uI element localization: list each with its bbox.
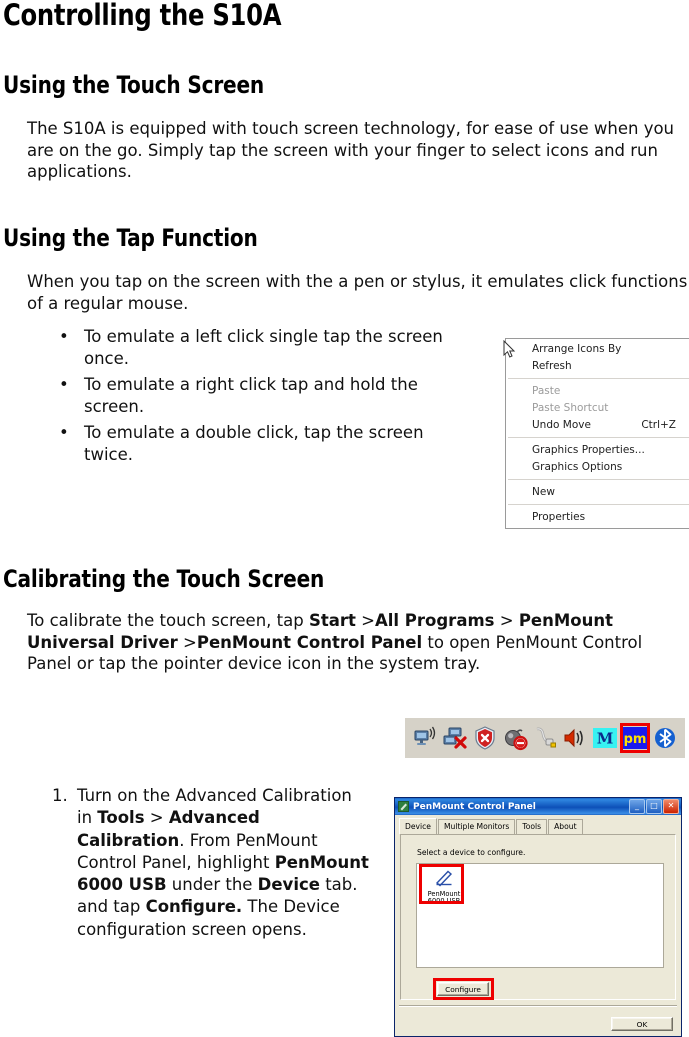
- text-run: under the: [167, 875, 258, 894]
- penmount-pm-icon[interactable]: pm: [622, 725, 648, 751]
- menu-item-paste: Paste: [506, 383, 689, 400]
- text-run: To calibrate the touch screen, tap: [27, 611, 309, 630]
- close-icon: ✕: [664, 800, 678, 813]
- select-device-hint: Select a device to configure.: [417, 848, 525, 857]
- menu-separator: [508, 378, 689, 380]
- menu-item-new[interactable]: New: [506, 484, 689, 501]
- paragraph-tap-function: When you tap on the screen with the a pe…: [27, 271, 689, 314]
- menu-item-shortcut: Ctrl+Z: [641, 417, 676, 434]
- menu-item-label: Graphics Options: [532, 461, 622, 473]
- text-run: >: [145, 808, 169, 827]
- text-run: >: [356, 611, 375, 630]
- emphasis-run: Tools: [97, 808, 144, 827]
- maximize-icon: □: [647, 800, 661, 813]
- menu-item-paste-shortcut: Paste Shortcut: [506, 400, 689, 417]
- maximize-button[interactable]: □: [646, 799, 662, 814]
- paragraph-calibrating: To calibrate the touch screen, tap Start…: [27, 610, 689, 675]
- device-tab-pane: Select a device to configure. PenMount 6…: [400, 834, 676, 1000]
- emphasis-run: Start: [309, 611, 356, 630]
- window-buttons: _ □ ✕: [629, 799, 679, 814]
- dialog-title-bar[interactable]: PenMount Control Panel _ □ ✕: [395, 798, 681, 815]
- system-tray-strip[interactable]: Mpm: [405, 718, 685, 758]
- close-button[interactable]: ✕: [663, 799, 679, 814]
- menu-item-label: Paste: [532, 385, 560, 397]
- tab-about[interactable]: About: [548, 819, 582, 834]
- stylus-pen-icon: [433, 868, 455, 887]
- step-item: 1.Turn on the Advanced Calibration in To…: [52, 785, 372, 941]
- network-disconnected-icon[interactable]: [442, 725, 468, 751]
- text-run: >: [494, 611, 518, 630]
- bullet-text: To emulate a left click single tap the s…: [84, 327, 443, 368]
- step-number: 1.: [52, 785, 68, 807]
- bullet-item: •To emulate a right click tap and hold t…: [57, 374, 477, 417]
- section-heading-tap-function: Using the Tap Function: [3, 224, 258, 252]
- configure-button[interactable]: Configure: [437, 982, 489, 996]
- menu-separator: [508, 437, 689, 439]
- penmount-app-icon: [398, 801, 409, 812]
- section-heading-touch-screen: Using the Touch Screen: [3, 71, 264, 99]
- step-text: Turn on the Advanced Calibration in Tool…: [77, 786, 369, 939]
- device-list-item-penmount-6000-usb[interactable]: PenMount 6000 USB: [422, 867, 466, 906]
- blocked-bomb-icon[interactable]: [502, 725, 528, 751]
- text-run: >: [178, 633, 197, 652]
- device-list[interactable]: PenMount 6000 USB: [416, 863, 664, 968]
- wireless-network-icon[interactable]: [412, 725, 438, 751]
- emphasis-run: PenMount Control Panel: [197, 633, 422, 652]
- emphasis-run: All Programs: [375, 611, 495, 630]
- bullet-text: To emulate a right click tap and hold th…: [84, 375, 418, 416]
- menu-item-graphics-properties[interactable]: Graphics Properties...: [506, 442, 689, 459]
- menu-item-undo-move[interactable]: Undo MoveCtrl+Z: [506, 417, 689, 434]
- tab-multiple-monitors[interactable]: Multiple Monitors: [438, 819, 515, 834]
- paragraph-touch-screen: The S10A is equipped with touch screen t…: [27, 118, 689, 183]
- menu-item-label: Arrange Icons By: [532, 343, 621, 355]
- minimize-button[interactable]: _: [629, 799, 645, 814]
- bullet-marker: •: [59, 326, 69, 348]
- page-title: Controlling the S10A: [3, 0, 281, 32]
- menu-item-label: Properties: [532, 511, 585, 523]
- svg-text:M: M: [597, 730, 614, 748]
- bullet-item: •To emulate a double click, tap the scre…: [57, 422, 477, 465]
- minimize-icon: _: [630, 800, 644, 813]
- bullet-text: To emulate a double click, tap the scree…: [84, 423, 424, 464]
- menu-item-label: Paste Shortcut: [532, 402, 608, 414]
- menu-item-refresh[interactable]: Refresh: [506, 358, 689, 375]
- desktop-context-menu[interactable]: Arrange Icons ByRefreshPastePaste Shortc…: [505, 338, 689, 529]
- bullet-item: •To emulate a left click single tap the …: [57, 326, 477, 369]
- menu-separator: [508, 479, 689, 481]
- section-heading-calibrating: Calibrating the Touch Screen: [3, 565, 324, 593]
- m-application-icon[interactable]: M: [592, 725, 618, 751]
- svg-text:pm: pm: [624, 732, 647, 747]
- emphasis-run: Device: [258, 875, 320, 894]
- dialog-tab-strip[interactable]: DeviceMultiple MonitorsToolsAbout: [395, 818, 681, 834]
- penmount-control-panel-dialog[interactable]: PenMount Control Panel _ □ ✕ DeviceMulti…: [394, 797, 682, 1037]
- menu-item-graphics-options[interactable]: Graphics Options: [506, 459, 689, 476]
- volume-speaker-icon[interactable]: [562, 725, 588, 751]
- mouse-pointer-icon: [503, 340, 516, 359]
- tab-device[interactable]: Device: [399, 818, 437, 834]
- menu-item-properties[interactable]: Properties: [506, 509, 689, 526]
- tab-tools[interactable]: Tools: [516, 819, 547, 834]
- bullet-marker: •: [59, 374, 69, 396]
- dialog-footer-divider: [399, 1005, 677, 1007]
- security-shield-alert-icon[interactable]: [472, 725, 498, 751]
- menu-item-label: New: [532, 486, 555, 498]
- dialog-title: PenMount Control Panel: [413, 802, 629, 812]
- bluetooth-icon[interactable]: [652, 725, 678, 751]
- device-label-line2: 6000 USB: [422, 898, 466, 906]
- menu-item-label: Undo Move: [532, 419, 591, 431]
- menu-item-label: Refresh: [532, 360, 572, 372]
- document-page: Controlling the S10A Using the Touch Scr…: [0, 0, 689, 1025]
- calibration-steps-list: 1.Turn on the Advanced Calibration in To…: [52, 785, 372, 941]
- menu-item-label: Graphics Properties...: [532, 444, 645, 456]
- ok-button[interactable]: OK: [611, 1017, 673, 1031]
- bullet-marker: •: [59, 422, 69, 444]
- emphasis-run: Configure.: [146, 897, 243, 916]
- menu-item-arrange-icons-by[interactable]: Arrange Icons By: [506, 341, 689, 358]
- tap-function-bullet-list: •To emulate a left click single tap the …: [57, 326, 477, 470]
- menu-separator: [508, 504, 689, 506]
- mouse-device-icon[interactable]: [532, 725, 558, 751]
